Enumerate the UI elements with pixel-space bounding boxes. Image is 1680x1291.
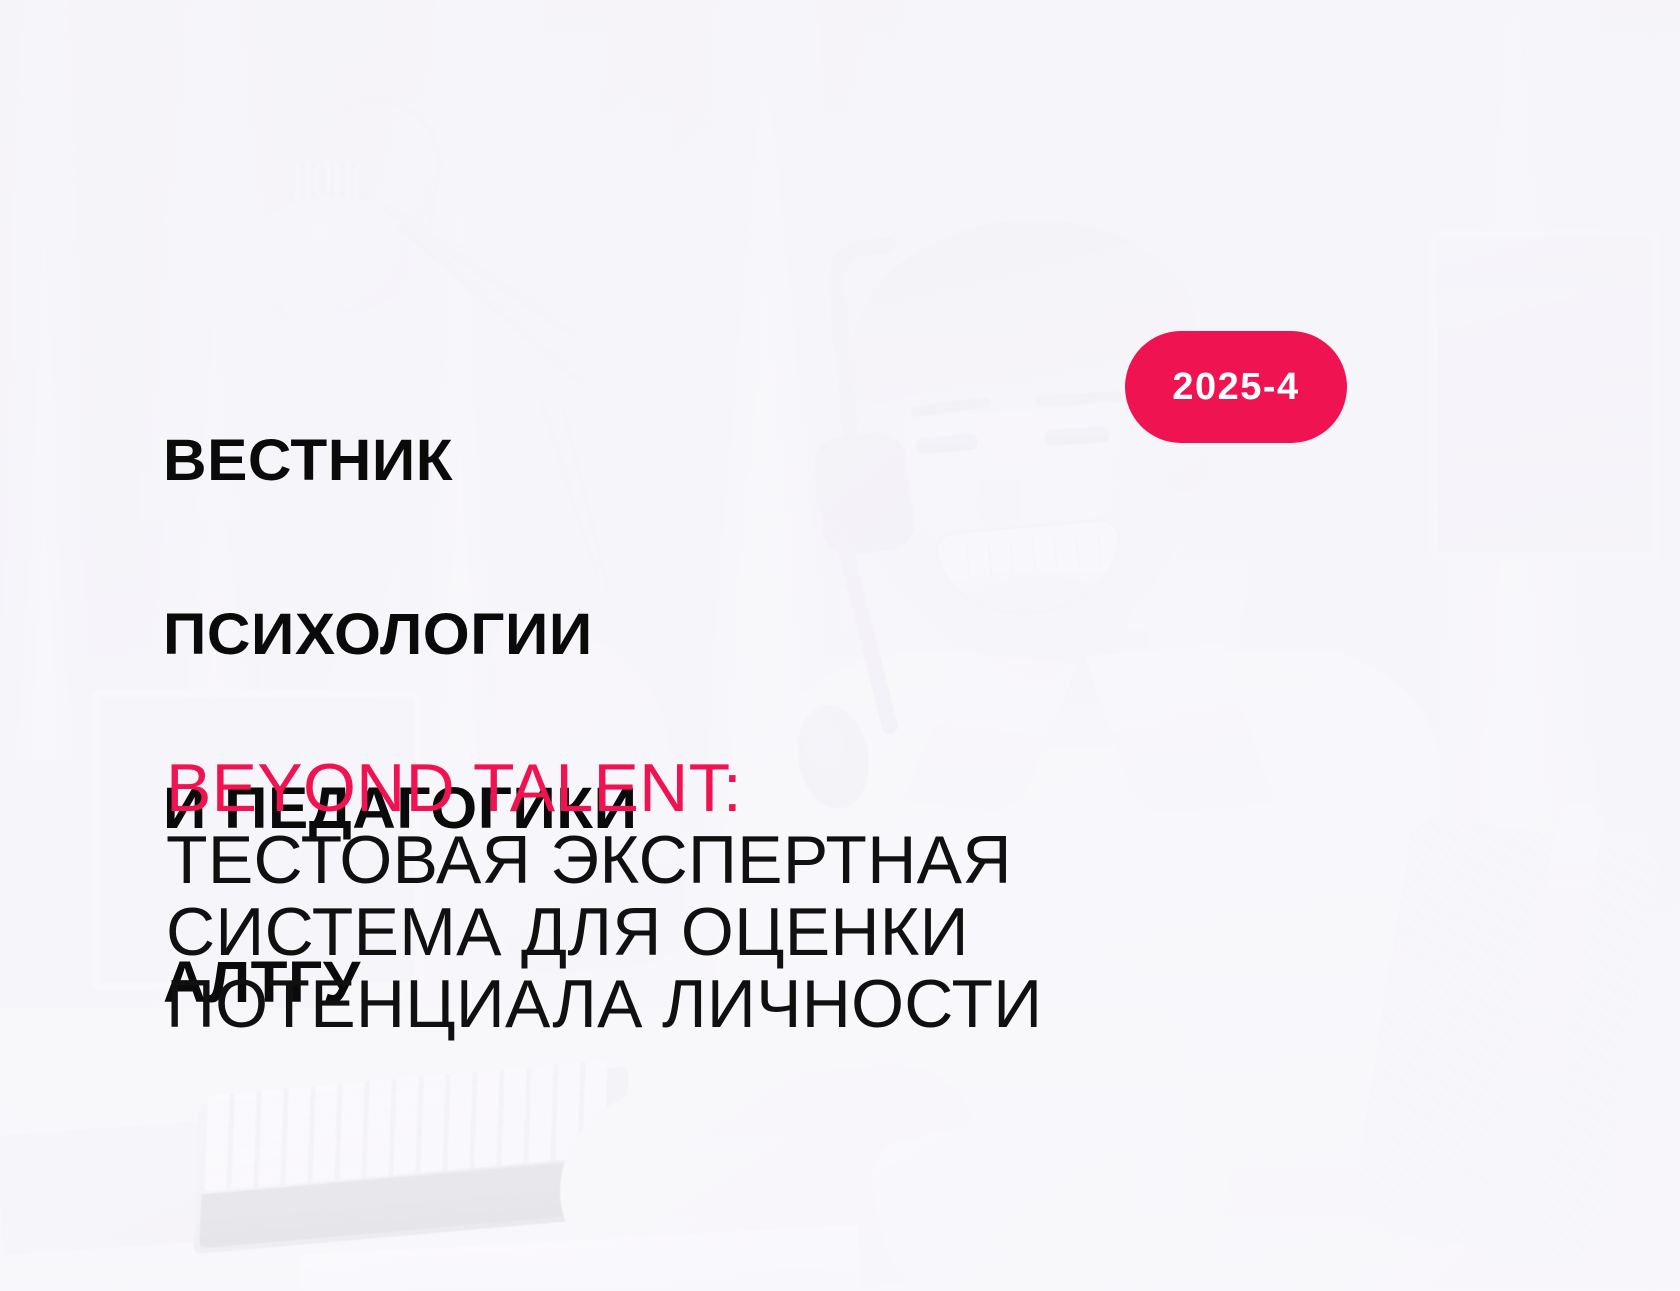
article-title: BEYOND TALENT: ТЕСТОВАЯ ЭКСПЕРТНАЯ СИСТЕ… [166, 752, 1496, 1040]
article-title-line-1: ТЕСТОВАЯ ЭКСПЕРТНАЯ [166, 824, 1496, 896]
issue-badge-label: 2025-4 [1172, 366, 1299, 409]
article-title-line-2: СИСТЕМА ДЛЯ ОЦЕНКИ [166, 896, 1496, 968]
masthead-line-2: ПСИХОЛОГИИ [163, 606, 638, 664]
article-highlight-line: BEYOND TALENT: [166, 752, 1496, 824]
cover-content: ВЕСТНИК ПСИХОЛОГИИ И ПЕДАГОГИКИ АЛТГУ 20… [0, 0, 1680, 1291]
article-title-line-3: ПОТЕНЦИАЛА ЛИЧНОСТИ [166, 968, 1496, 1040]
issue-badge[interactable]: 2025-4 [1125, 331, 1347, 443]
masthead-line-1: ВЕСТНИК [163, 432, 638, 490]
journal-cover-card: ВЕСТНИК ПСИХОЛОГИИ И ПЕДАГОГИКИ АЛТГУ 20… [0, 0, 1680, 1291]
